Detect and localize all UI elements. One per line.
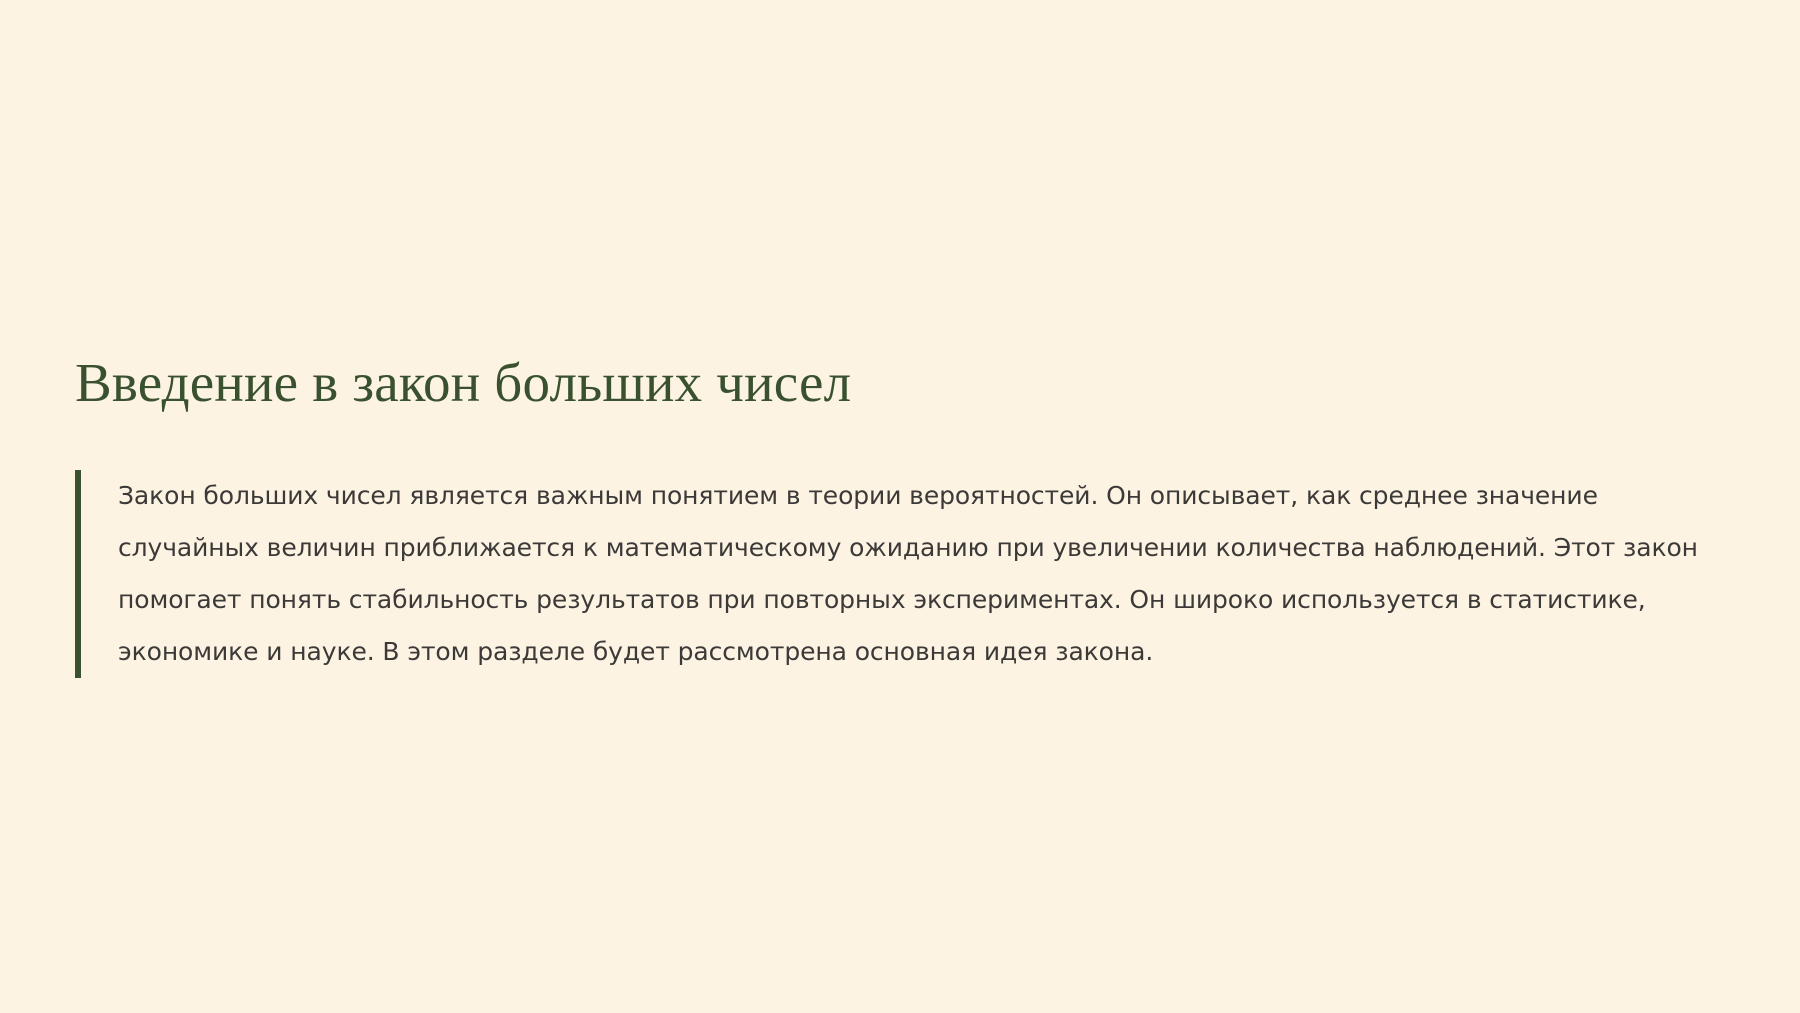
body-paragraph: Закон больших чисел является важным поня… [118, 470, 1725, 678]
content-section: Введение в закон больших чисел Закон бол… [75, 352, 1725, 678]
slide-canvas: Введение в закон больших чисел Закон бол… [0, 0, 1800, 1013]
highlighted-quote-block: Закон больших чисел является важным поня… [75, 470, 1725, 678]
page-title: Введение в закон больших чисел [75, 352, 1725, 414]
